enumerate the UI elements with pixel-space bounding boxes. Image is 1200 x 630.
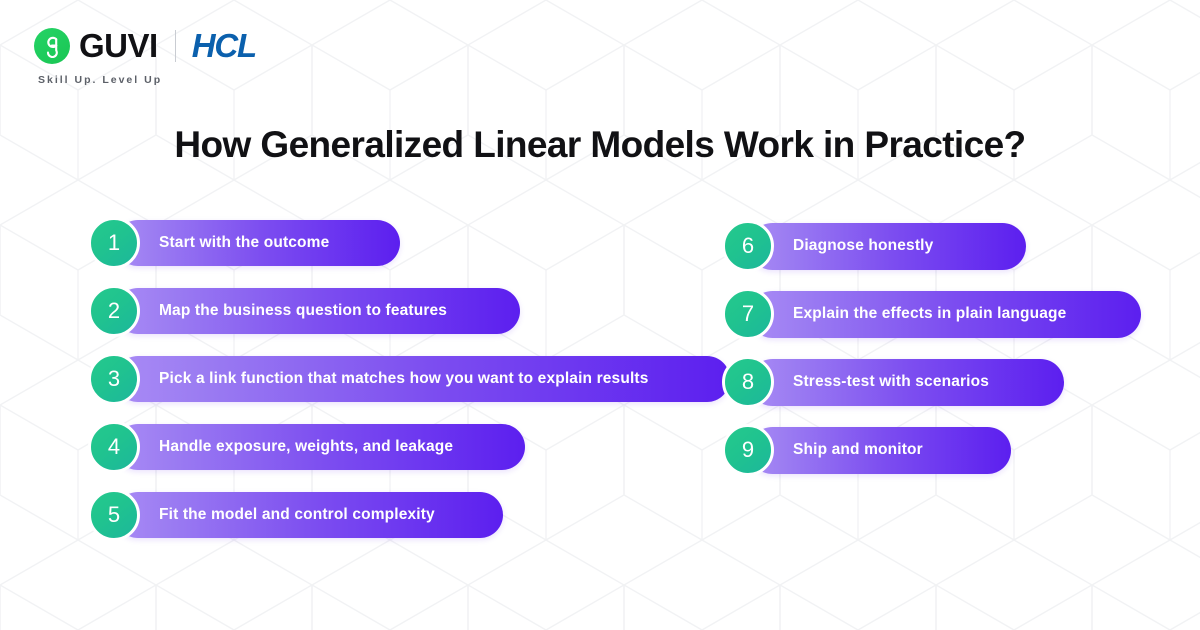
step-row[interactable]: Start with the outcome1	[88, 215, 730, 271]
step-row[interactable]: Diagnose honestly6	[722, 218, 1141, 274]
step-number: 4	[108, 436, 120, 458]
steps-column-left: Start with the outcome1Map the business …	[88, 215, 730, 555]
step-number: 3	[108, 368, 120, 390]
step-pill[interactable]: Explain the effects in plain language	[749, 291, 1141, 338]
step-pill[interactable]: Pick a link function that matches how yo…	[115, 356, 730, 402]
page-title: How Generalized Linear Models Work in Pr…	[0, 124, 1200, 166]
step-number-badge: 6	[722, 220, 774, 272]
step-pill[interactable]: Fit the model and control complexity	[115, 492, 503, 538]
step-number-badge: 7	[722, 288, 774, 340]
logo-divider	[175, 30, 176, 62]
logo-row: GUVI HCL	[34, 24, 256, 68]
step-number: 7	[742, 303, 754, 325]
step-number: 1	[108, 232, 120, 254]
step-row[interactable]: Pick a link function that matches how yo…	[88, 351, 730, 407]
step-row[interactable]: Handle exposure, weights, and leakage4	[88, 419, 730, 475]
step-label: Map the business question to features	[159, 302, 447, 320]
brand-logo-block: GUVI HCL Skill Up. Level Up	[34, 24, 256, 86]
step-number: 6	[742, 235, 754, 257]
step-row[interactable]: Ship and monitor9	[722, 422, 1141, 478]
guvi-g-logo-icon	[34, 28, 70, 64]
step-pill[interactable]: Stress-test with scenarios	[749, 359, 1064, 406]
step-number: 9	[742, 439, 754, 461]
step-pill[interactable]: Start with the outcome	[115, 220, 400, 266]
step-row[interactable]: Fit the model and control complexity5	[88, 487, 730, 543]
step-number-badge: 2	[88, 285, 140, 337]
step-number-badge: 1	[88, 217, 140, 269]
steps-column-right: Diagnose honestly6Explain the effects in…	[722, 218, 1141, 490]
step-number: 2	[108, 300, 120, 322]
step-row[interactable]: Map the business question to features2	[88, 283, 730, 339]
brand-tagline: Skill Up. Level Up	[38, 74, 256, 86]
step-pill[interactable]: Map the business question to features	[115, 288, 520, 334]
step-pill[interactable]: Diagnose honestly	[749, 223, 1026, 270]
step-number-badge: 5	[88, 489, 140, 541]
step-label: Diagnose honestly	[793, 237, 933, 255]
step-pill[interactable]: Ship and monitor	[749, 427, 1011, 474]
step-label: Stress-test with scenarios	[793, 373, 989, 391]
step-number-badge: 9	[722, 424, 774, 476]
step-label: Start with the outcome	[159, 234, 329, 252]
guvi-wordmark: GUVI	[79, 27, 158, 65]
step-number: 8	[742, 371, 754, 393]
step-pill[interactable]: Handle exposure, weights, and leakage	[115, 424, 525, 470]
step-row[interactable]: Explain the effects in plain language7	[722, 286, 1141, 342]
step-number-badge: 4	[88, 421, 140, 473]
step-number-badge: 8	[722, 356, 774, 408]
step-row[interactable]: Stress-test with scenarios8	[722, 354, 1141, 410]
hcl-wordmark: HCL	[192, 27, 256, 65]
step-label: Explain the effects in plain language	[793, 305, 1066, 323]
step-label: Ship and monitor	[793, 441, 923, 459]
step-number: 5	[108, 504, 120, 526]
step-label: Handle exposure, weights, and leakage	[159, 438, 453, 456]
step-label: Pick a link function that matches how yo…	[159, 370, 648, 388]
step-label: Fit the model and control complexity	[159, 506, 435, 524]
step-number-badge: 3	[88, 353, 140, 405]
